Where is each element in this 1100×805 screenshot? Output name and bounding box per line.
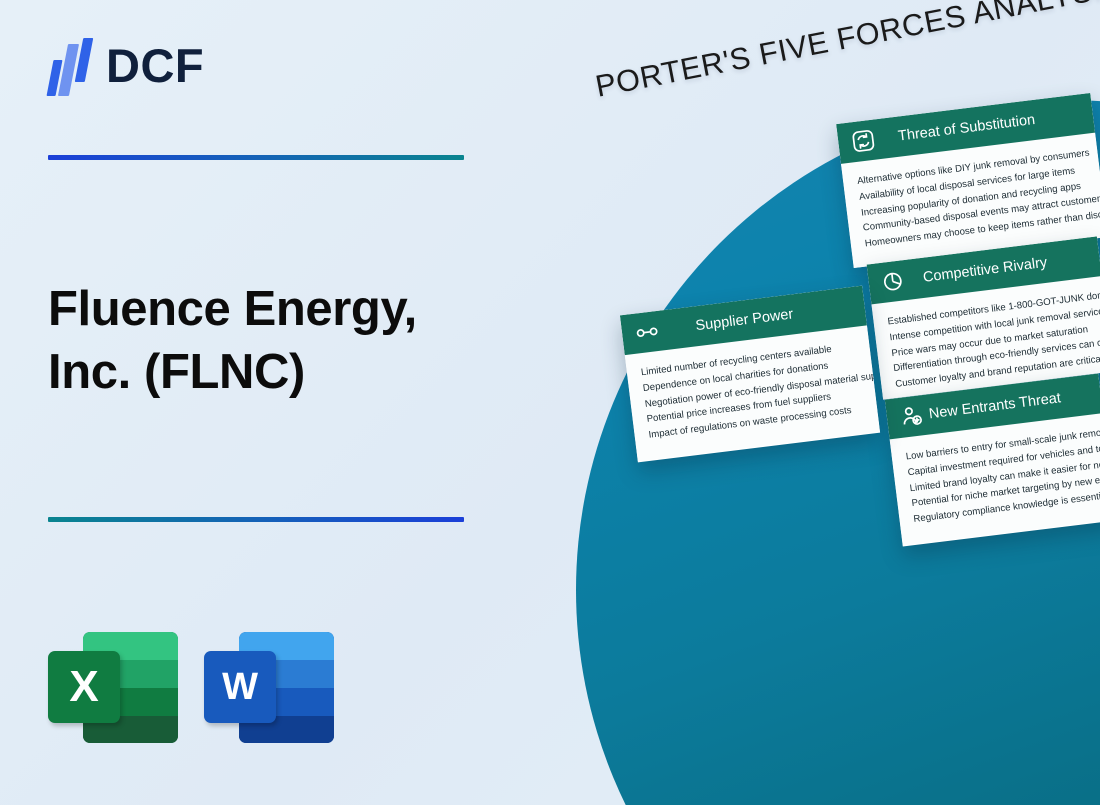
word-letter: W xyxy=(204,651,276,723)
download-formats: X W xyxy=(48,628,334,743)
brand-name: DCF xyxy=(106,42,204,93)
card-title: New Entrants Threat xyxy=(924,387,1090,423)
poster-page: PORTER'S FIVE FORCES ANALYSIS Threat of … xyxy=(0,0,1100,805)
divider-top xyxy=(48,155,464,160)
excel-file-icon[interactable]: X xyxy=(48,628,178,743)
link-chain-icon xyxy=(633,318,662,347)
card-competitive-rivalry[interactable]: Competitive Rivalry Established competit… xyxy=(867,236,1100,399)
card-supplier-power[interactable]: Supplier Power Limited number of recycli… xyxy=(620,286,880,463)
add-user-icon xyxy=(898,402,927,431)
page-title: Fluence Energy, Inc. (FLNC) xyxy=(48,278,488,403)
dcf-bars-logo-icon xyxy=(48,38,92,96)
divider-bottom xyxy=(48,517,464,522)
word-file-icon[interactable]: W xyxy=(204,628,334,743)
refresh-sync-icon xyxy=(849,126,878,155)
forces-headline: PORTER'S FIVE FORCES ANALYSIS xyxy=(593,0,1100,105)
brand-logo[interactable]: DCF xyxy=(48,38,204,96)
pie-chart-icon xyxy=(879,267,908,296)
title-panel: DCF Fluence Energy, Inc. (FLNC) X W xyxy=(0,0,580,805)
card-new-entrants-threat[interactable]: New Entrants Threat Low barriers to entr… xyxy=(885,373,1100,546)
excel-letter: X xyxy=(48,651,120,723)
